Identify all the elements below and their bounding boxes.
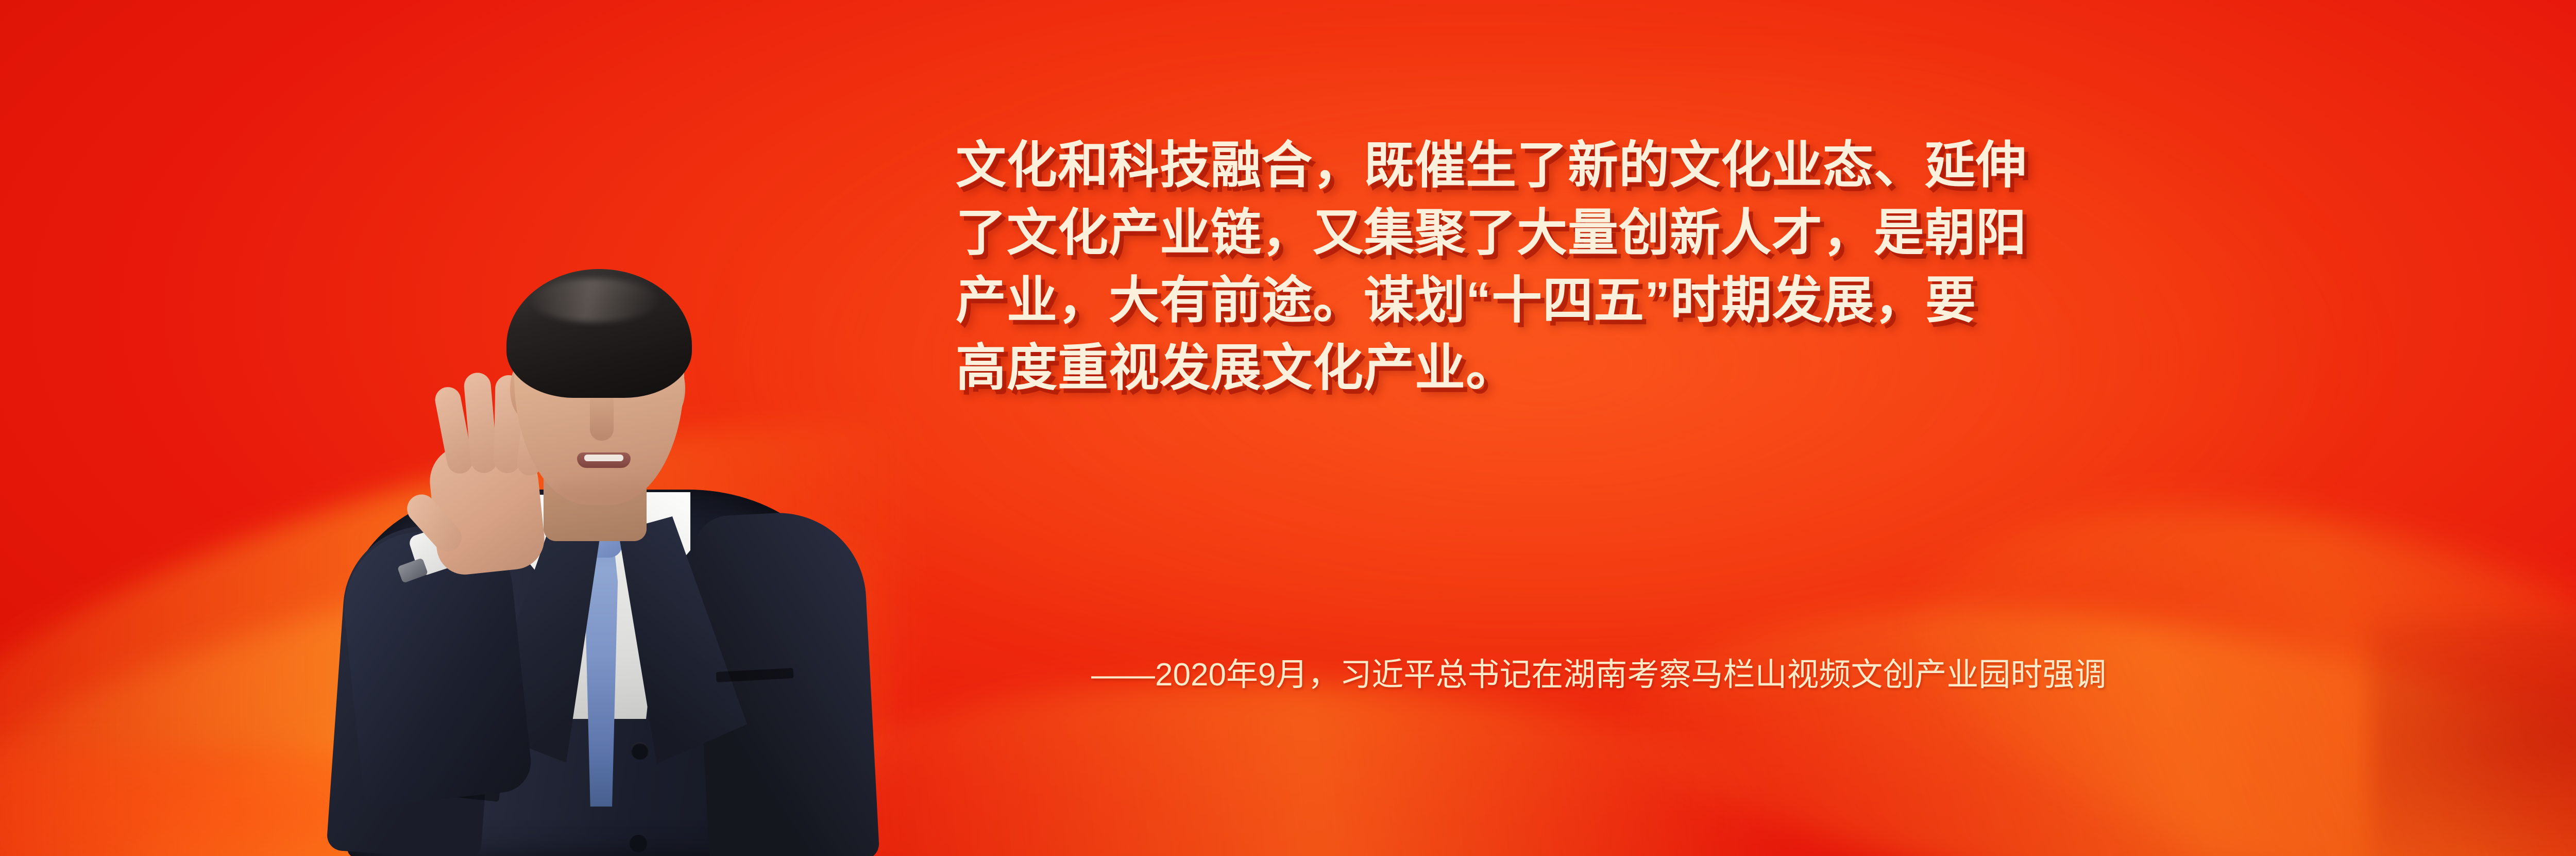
propaganda-banner: 文化和科技融合，既催生了新的文化业态、延伸 了文化产业链，又集聚了大量创新人才，… xyxy=(0,0,2576,856)
ribbon-wave-6 xyxy=(1875,413,2576,856)
quote-text: 文化和科技融合，既催生了新的文化业态、延伸 了文化产业链，又集聚了大量创新人才，… xyxy=(956,131,2501,401)
quote-block: 文化和科技融合，既催生了新的文化业态、延伸 了文化产业链，又集聚了大量创新人才，… xyxy=(956,131,2501,401)
ribbon-shadow-right xyxy=(2370,618,2576,856)
quote-attribution: ——2020年9月，习近平总书记在湖南考察马栏山视频文创产业园时强调 xyxy=(1091,648,2106,695)
ribbon-wave-5 xyxy=(1607,534,2576,856)
hair-highlight xyxy=(531,278,659,322)
leader-portrait xyxy=(309,129,876,856)
teeth xyxy=(584,455,623,461)
chin-shading xyxy=(556,475,644,503)
jacket-button-bottom xyxy=(630,835,647,852)
jacket-button-top xyxy=(631,742,649,760)
